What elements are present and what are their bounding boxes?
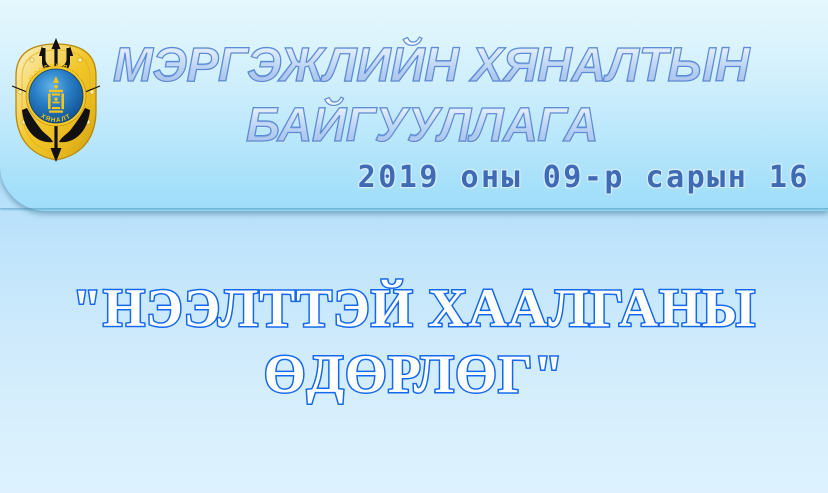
agency-emblem-logo: МЭРГЭЖЛИЙН ХЯНАЛТ: [6, 24, 106, 164]
slide-canvas: МЭРГЭЖЛИЙН ХЯНАЛТ МЭРГЭЖЛИЙН ХЯНАЛТЫН БА…: [0, 0, 828, 493]
organization-title-line-2: БАЙГУУЛЛАГА: [246, 98, 598, 154]
organization-title-line-1: МЭРГЭЖЛИЙН ХЯНАЛТЫН: [113, 38, 749, 94]
event-date: 2019 оны 09-р сарын 16: [358, 160, 810, 195]
event-headline-line-2: ӨДӨРЛӨГ": [0, 343, 828, 405]
event-headline-line-1: "НЭЭЛТТЭЙ ХААЛГАНЫ: [0, 277, 828, 339]
